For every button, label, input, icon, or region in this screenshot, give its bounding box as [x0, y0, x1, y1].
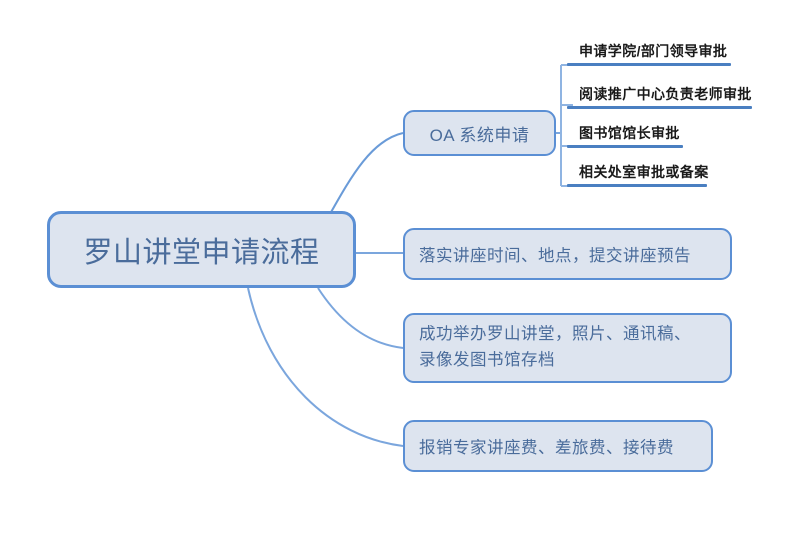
branch-node-reimburse[interactable]: 报销专家讲座费、差旅费、接待费: [403, 420, 713, 472]
sub-branch-approval-departments[interactable]: 相关处室审批或备案: [561, 162, 713, 187]
connector-root-to-reimburse: [248, 288, 403, 446]
connector-root-to-oa: [330, 133, 403, 214]
mindmap-canvas: 罗山讲堂申请流程 OA 系统申请 申请学院/部门领导审批 阅读推广中心负责老师审…: [0, 0, 794, 536]
branch-node-schedule[interactable]: 落实讲座时间、地点，提交讲座预告: [403, 228, 732, 280]
sub-branch-approval-college[interactable]: 申请学院/部门领导审批: [561, 41, 731, 66]
sub-branch-underline: [567, 106, 752, 109]
branch-node-oa-label: OA 系统申请: [405, 121, 554, 146]
sub-branch-underline: [567, 63, 731, 66]
sub-branch-approval-reading-center-label: 阅读推广中心负责老师审批: [561, 84, 756, 106]
sub-branch-approval-reading-center[interactable]: 阅读推广中心负责老师审批: [561, 84, 756, 109]
sub-branch-approval-library-director-label: 图书馆馆长审批: [561, 123, 684, 145]
sub-branch-approval-library-director[interactable]: 图书馆馆长审批: [561, 123, 684, 148]
sub-branch-underline: [567, 145, 683, 148]
root-node-label: 罗山讲堂申请流程: [50, 229, 353, 271]
root-node[interactable]: 罗山讲堂申请流程: [47, 211, 356, 288]
connector-root-to-archive: [318, 288, 403, 348]
branch-node-oa[interactable]: OA 系统申请: [403, 110, 556, 156]
branch-node-schedule-label: 落实讲座时间、地点，提交讲座预告: [419, 242, 716, 266]
sub-branch-approval-college-label: 申请学院/部门领导审批: [561, 41, 731, 63]
branch-node-archive-label: 成功举办罗山讲堂，照片、通讯稿、 录像发图书馆存档: [419, 322, 716, 373]
branch-node-reimburse-label: 报销专家讲座费、差旅费、接待费: [419, 434, 697, 458]
sub-branch-underline: [567, 184, 707, 187]
sub-branch-approval-departments-label: 相关处室审批或备案: [561, 162, 713, 184]
branch-node-archive[interactable]: 成功举办罗山讲堂，照片、通讯稿、 录像发图书馆存档: [403, 313, 732, 383]
